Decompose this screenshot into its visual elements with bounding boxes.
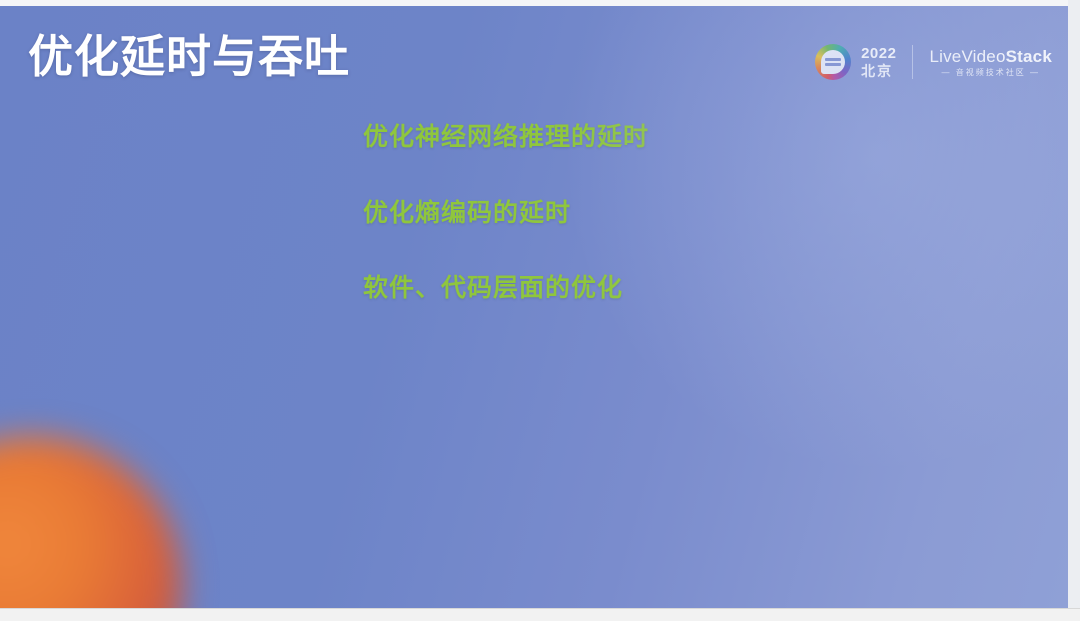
livevideostack-wordmark: LiveVideoStack — 音视频技术社区 — — [929, 47, 1052, 78]
livevideostack-ring-icon — [815, 44, 851, 80]
list-item: 优化熵编码的延时 — [363, 200, 649, 228]
decorative-orange-blob — [0, 436, 182, 608]
bottom-frame-strip — [0, 608, 1080, 621]
speech-bubble-icon — [821, 50, 845, 74]
wordmark-text: LiveVideoStack — [929, 47, 1052, 67]
brand-logo-bar: 2022 北京 LiveVideoStack — 音视频技术社区 — — [815, 40, 1052, 84]
slide-page: 优化延时与吞吐 优化神经网络推理的延时 优化熵编码的延时 软件、代码层面的优化 … — [0, 0, 1080, 621]
presentation-slide: 优化延时与吞吐 优化神经网络推理的延时 优化熵编码的延时 软件、代码层面的优化 … — [0, 6, 1068, 608]
event-city: 北京 — [861, 63, 896, 79]
event-year-city: 2022 北京 — [861, 45, 896, 78]
wordmark-prefix: LiveVideo — [929, 47, 1005, 66]
page-title: 优化延时与吞吐 — [28, 32, 350, 82]
list-item: 优化神经网络推理的延时 — [363, 124, 649, 152]
wordmark-subtitle: — 音视频技术社区 — — [929, 68, 1052, 77]
list-item: 软件、代码层面的优化 — [363, 275, 649, 303]
logo-divider — [912, 45, 913, 79]
right-frame-strip — [1068, 0, 1080, 621]
wordmark-suffix: Stack — [1006, 47, 1052, 66]
event-year: 2022 — [861, 45, 896, 62]
top-frame-strip — [0, 0, 1080, 6]
bullet-list: 优化神经网络推理的延时 优化熵编码的延时 软件、代码层面的优化 — [363, 124, 649, 303]
